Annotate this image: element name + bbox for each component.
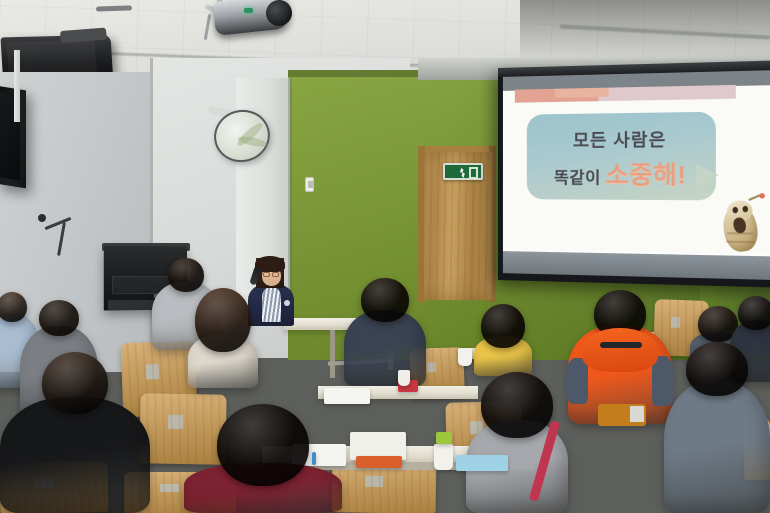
paper-cup-right[interactable] <box>398 370 410 386</box>
person-yellow-top <box>474 304 532 376</box>
audience-head <box>361 278 409 322</box>
audience-body <box>0 397 150 513</box>
hood-drawstring <box>600 342 642 348</box>
lecture-room-photo: 모든 사람은 똑같이 소중해! <box>0 0 770 513</box>
audience-head <box>738 296 770 330</box>
audience-head <box>686 342 748 396</box>
person-maroon-jacket-front <box>184 404 342 513</box>
paper-cup-middle[interactable] <box>458 348 472 366</box>
audience-head <box>217 404 309 486</box>
green-yellow-item[interactable] <box>436 432 452 444</box>
orange-jacket-hood <box>582 328 658 372</box>
paper-sheet-middle[interactable] <box>324 388 370 404</box>
audience-head <box>481 304 525 348</box>
person-black-leather-jacket <box>0 352 150 513</box>
person-long-brown-hair <box>188 288 258 388</box>
audience-head <box>195 288 251 352</box>
audience-head <box>168 258 204 292</box>
person-navy-puffer <box>344 278 426 386</box>
orange-jacket-shoulder-left <box>566 358 588 404</box>
audience-head <box>42 352 108 414</box>
chair-tag-behind-orange <box>630 406 644 422</box>
person-slate-shirt-right <box>664 342 770 513</box>
orange-booklet[interactable] <box>356 456 402 468</box>
audience-body <box>664 381 770 513</box>
audience-head <box>39 300 79 336</box>
audience-head <box>481 372 553 438</box>
paper-cup-front[interactable] <box>434 444 453 470</box>
orange-jacket-shoulder-right <box>652 356 674 406</box>
colorful-book[interactable] <box>456 455 508 471</box>
